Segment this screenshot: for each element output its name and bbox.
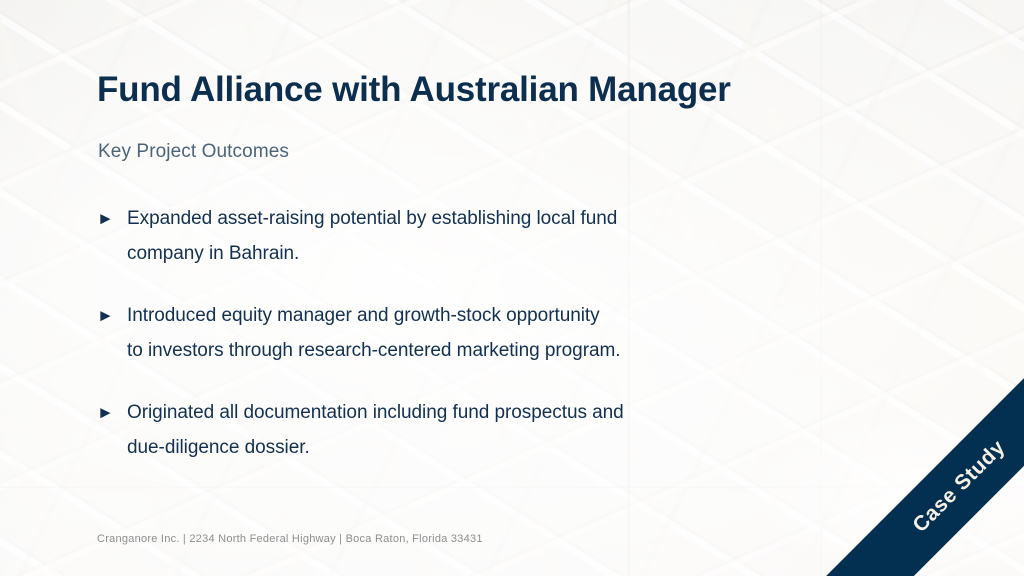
slide-subtitle: Key Project Outcomes (98, 141, 289, 163)
slide-content: Fund Alliance with Australian Manager Ke… (0, 0, 1024, 576)
triangle-right-icon: ► (97, 395, 127, 430)
bullet-line: Originated all documentation including f… (127, 395, 837, 430)
bullet-text: Expanded asset-raising potential by esta… (127, 201, 837, 271)
slide-title: Fund Alliance with Australian Manager (97, 70, 731, 110)
bullet-item: ► Originated all documentation including… (97, 395, 837, 465)
triangle-right-icon: ► (97, 298, 127, 333)
bullet-text: Introduced equity manager and growth-sto… (127, 298, 837, 368)
triangle-right-icon: ► (97, 201, 127, 236)
bullet-line: due-diligence dossier. (127, 430, 837, 465)
corner-ribbon-label: Case Study (848, 436, 1011, 576)
bullet-line: to investors through research-centered m… (127, 333, 837, 368)
footer-contact-line: Cranganore Inc. | 2234 North Federal Hig… (97, 533, 483, 545)
bullet-text: Originated all documentation including f… (127, 395, 837, 465)
bullet-list: ► Expanded asset-raising potential by es… (97, 201, 837, 492)
bullet-line: Introduced equity manager and growth-sto… (127, 298, 837, 333)
bullet-item: ► Introduced equity manager and growth-s… (97, 298, 837, 368)
slide-canvas: Fund Alliance with Australian Manager Ke… (0, 0, 1024, 576)
bullet-line: company in Bahrain. (127, 236, 837, 271)
bullet-line: Expanded asset-raising potential by esta… (127, 201, 837, 236)
bullet-item: ► Expanded asset-raising potential by es… (97, 201, 837, 271)
